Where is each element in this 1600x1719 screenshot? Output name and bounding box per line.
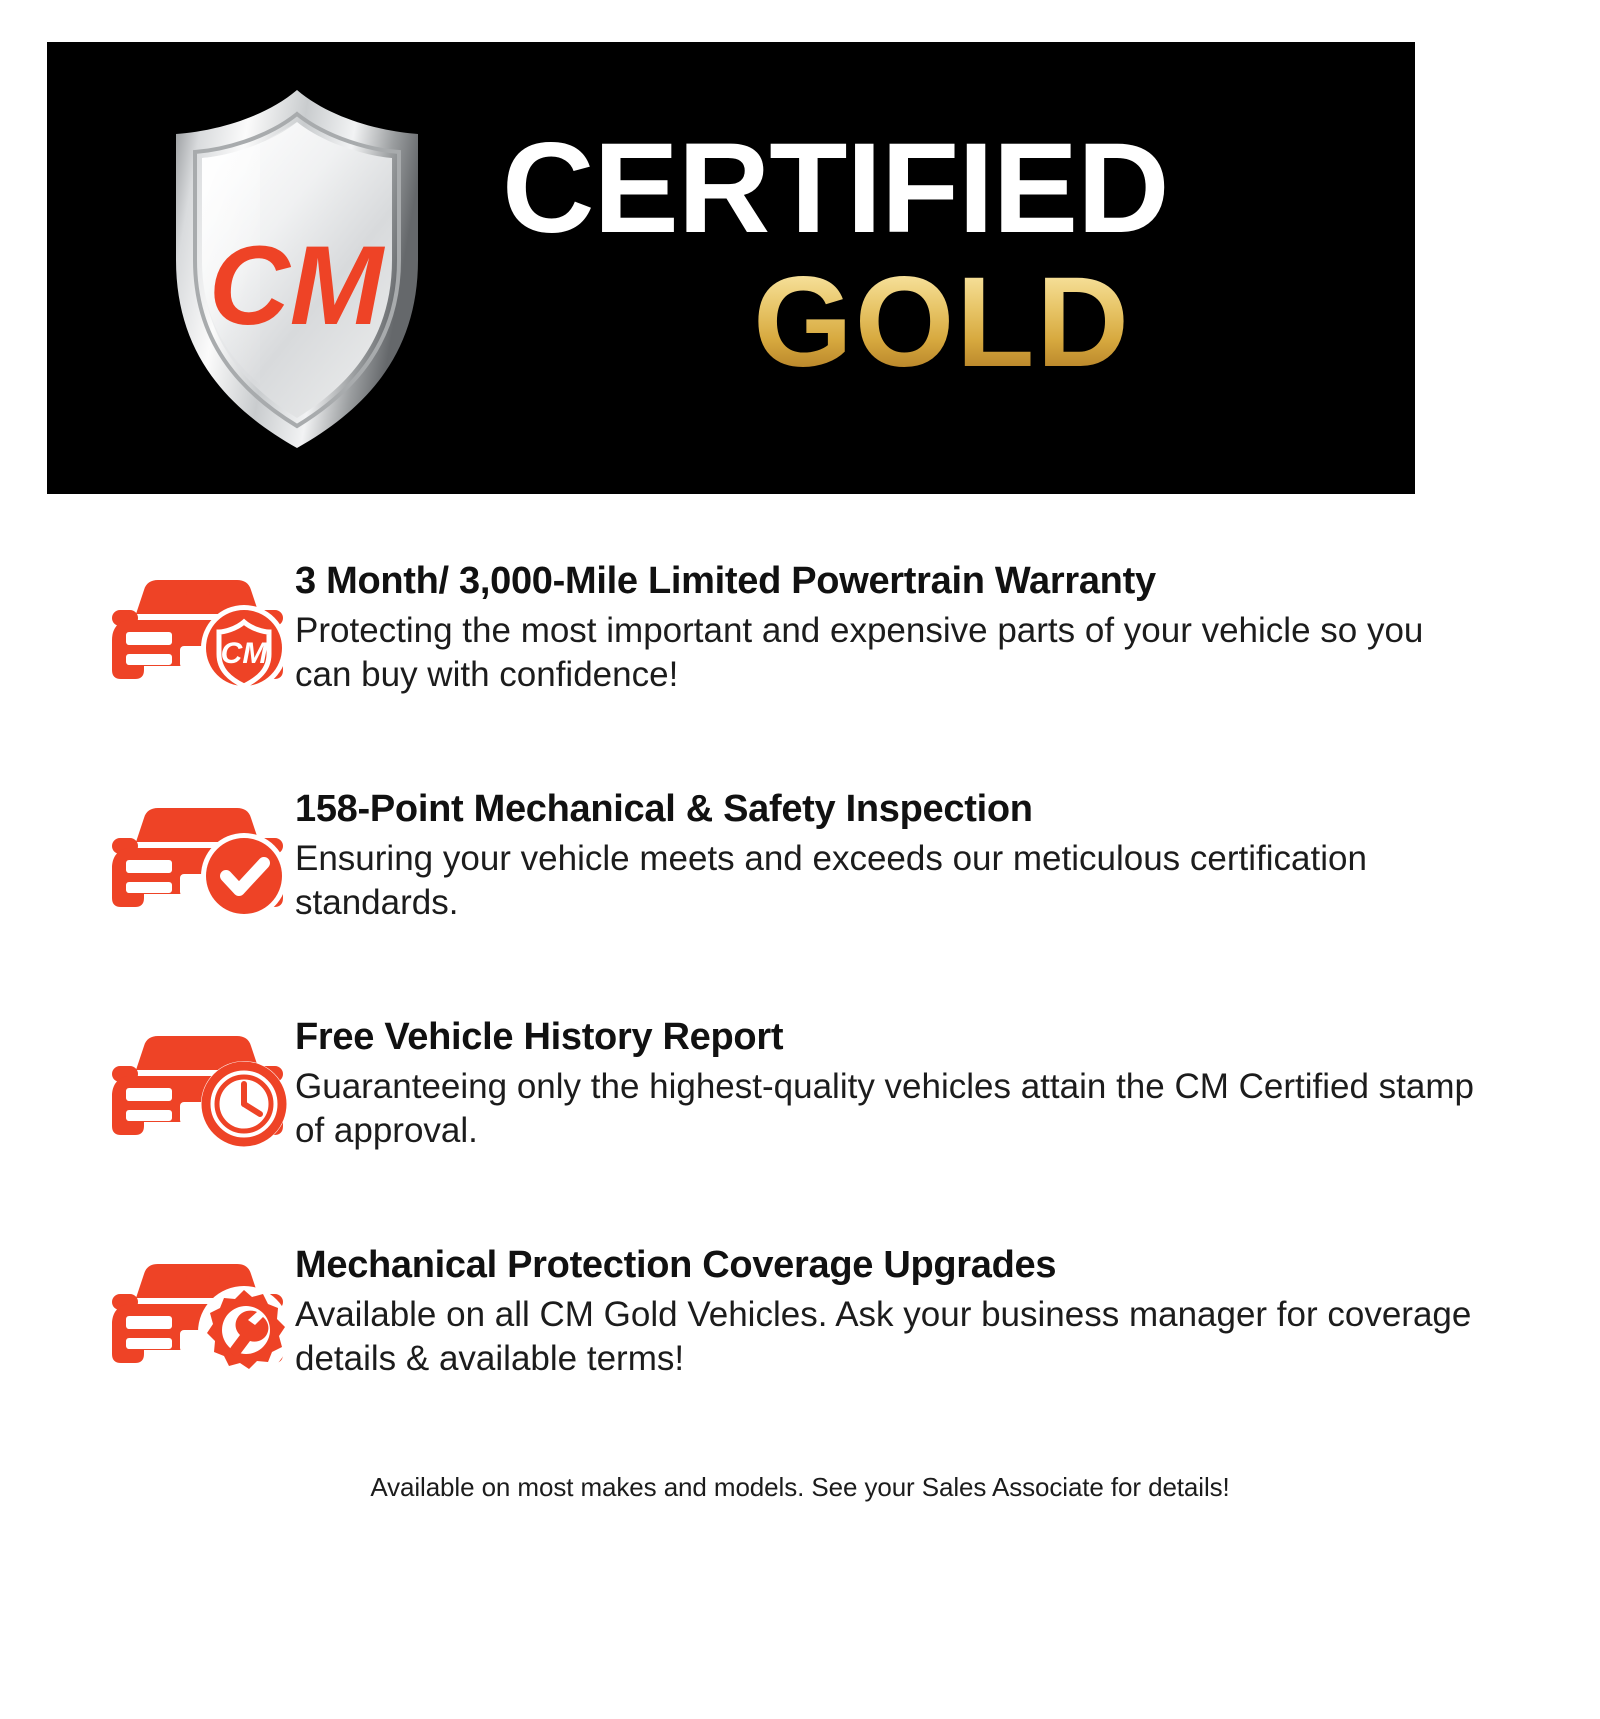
car-with-cm-shield-icon: CM [100,560,295,696]
banner-title-certified: CERTIFIED [502,122,1382,256]
feature-item: 158-Point Mechanical & Safety Inspection… [0,788,1600,1016]
feature-title: Free Vehicle History Report [295,1016,1600,1059]
footer-disclaimer: Available on most makes and models. See … [0,1472,1600,1503]
car-with-gear-wrench-icon [100,1244,295,1380]
banner-title-block: CERTIFIED GOLD [502,122,1382,391]
feature-text-block: Free Vehicle History Report Guaranteeing… [295,1016,1600,1154]
feature-text-block: 3 Month/ 3,000-Mile Limited Powertrain W… [295,560,1600,698]
feature-title: 3 Month/ 3,000-Mile Limited Powertrain W… [295,560,1600,603]
feature-list: CM 3 Month/ 3,000-Mile Limited Powertrai… [0,560,1600,1472]
car-with-checkmark-icon [100,788,295,924]
feature-item: Mechanical Protection Coverage Upgrades … [0,1244,1600,1472]
feature-title: 158-Point Mechanical & Safety Inspection [295,788,1600,831]
cm-shield-logo: CM [162,84,432,454]
cm-monogram-text: CM [209,223,386,348]
banner-title-gold: GOLD [502,256,1382,390]
feature-description: Ensuring your vehicle meets and exceeds … [295,837,1475,927]
svg-text:CM: CM [221,637,269,670]
feature-item: CM 3 Month/ 3,000-Mile Limited Powertrai… [0,560,1600,788]
feature-description: Available on all CM Gold Vehicles. Ask y… [295,1293,1475,1383]
feature-description: Protecting the most important and expens… [295,609,1475,699]
feature-text-block: 158-Point Mechanical & Safety Inspection… [295,788,1600,926]
feature-item: Free Vehicle History Report Guaranteeing… [0,1016,1600,1244]
header-banner: CM CERTIFIED GOLD [47,42,1415,494]
feature-title: Mechanical Protection Coverage Upgrades [295,1244,1600,1287]
feature-text-block: Mechanical Protection Coverage Upgrades … [295,1244,1600,1382]
certified-gold-flyer: CM CERTIFIED GOLD [0,0,1600,1719]
feature-description: Guaranteeing only the highest-quality ve… [295,1065,1475,1155]
car-with-clock-icon [100,1016,295,1152]
shield-icon: CM [162,84,432,454]
